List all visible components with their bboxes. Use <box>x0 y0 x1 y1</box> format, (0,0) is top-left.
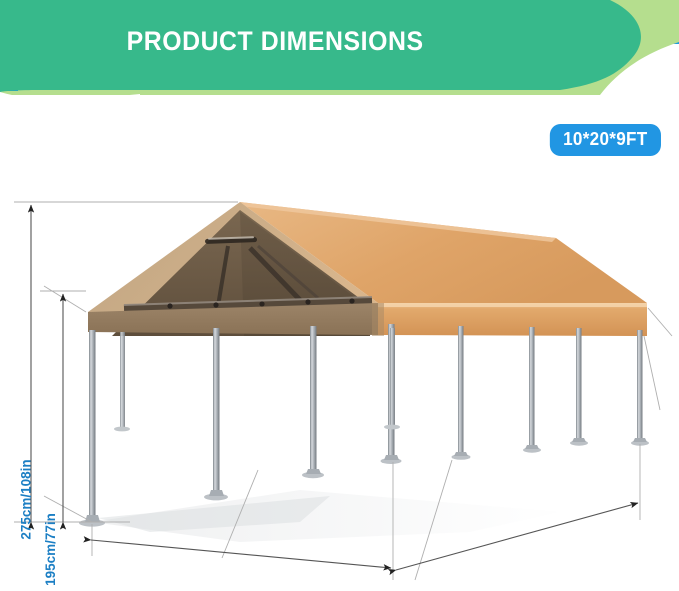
size-badge: 10*20*9FT <box>550 124 661 156</box>
canopy-fascia-corner <box>372 303 384 336</box>
product-dimensions-infographic: PRODUCT DIMENSIONS 10*20*9FT <box>0 0 679 591</box>
leg <box>120 332 125 428</box>
dimension-label-height-eave: 195cm/77in <box>43 513 58 586</box>
leg <box>529 327 535 449</box>
leg <box>458 326 464 456</box>
leg <box>390 328 395 426</box>
canopy-fascia-highlight <box>378 303 647 307</box>
arrow-width <box>91 540 391 568</box>
leg-base <box>384 425 400 430</box>
canopy-fascia-right <box>378 303 647 336</box>
leg <box>576 328 582 442</box>
dimension-label-height-total: 275cm/108in <box>19 459 34 539</box>
ground-shadow <box>92 490 560 542</box>
header-banner: PRODUCT DIMENSIONS <box>0 0 679 112</box>
leg <box>637 330 643 442</box>
leg <box>310 326 317 474</box>
leg-base <box>114 427 130 432</box>
leg <box>213 328 220 496</box>
carport-illustration: 275cm/108in 195cm/77in 300cm/118in 600cm… <box>0 160 679 591</box>
leg <box>89 330 96 522</box>
page-title: PRODUCT DIMENSIONS <box>27 26 652 57</box>
